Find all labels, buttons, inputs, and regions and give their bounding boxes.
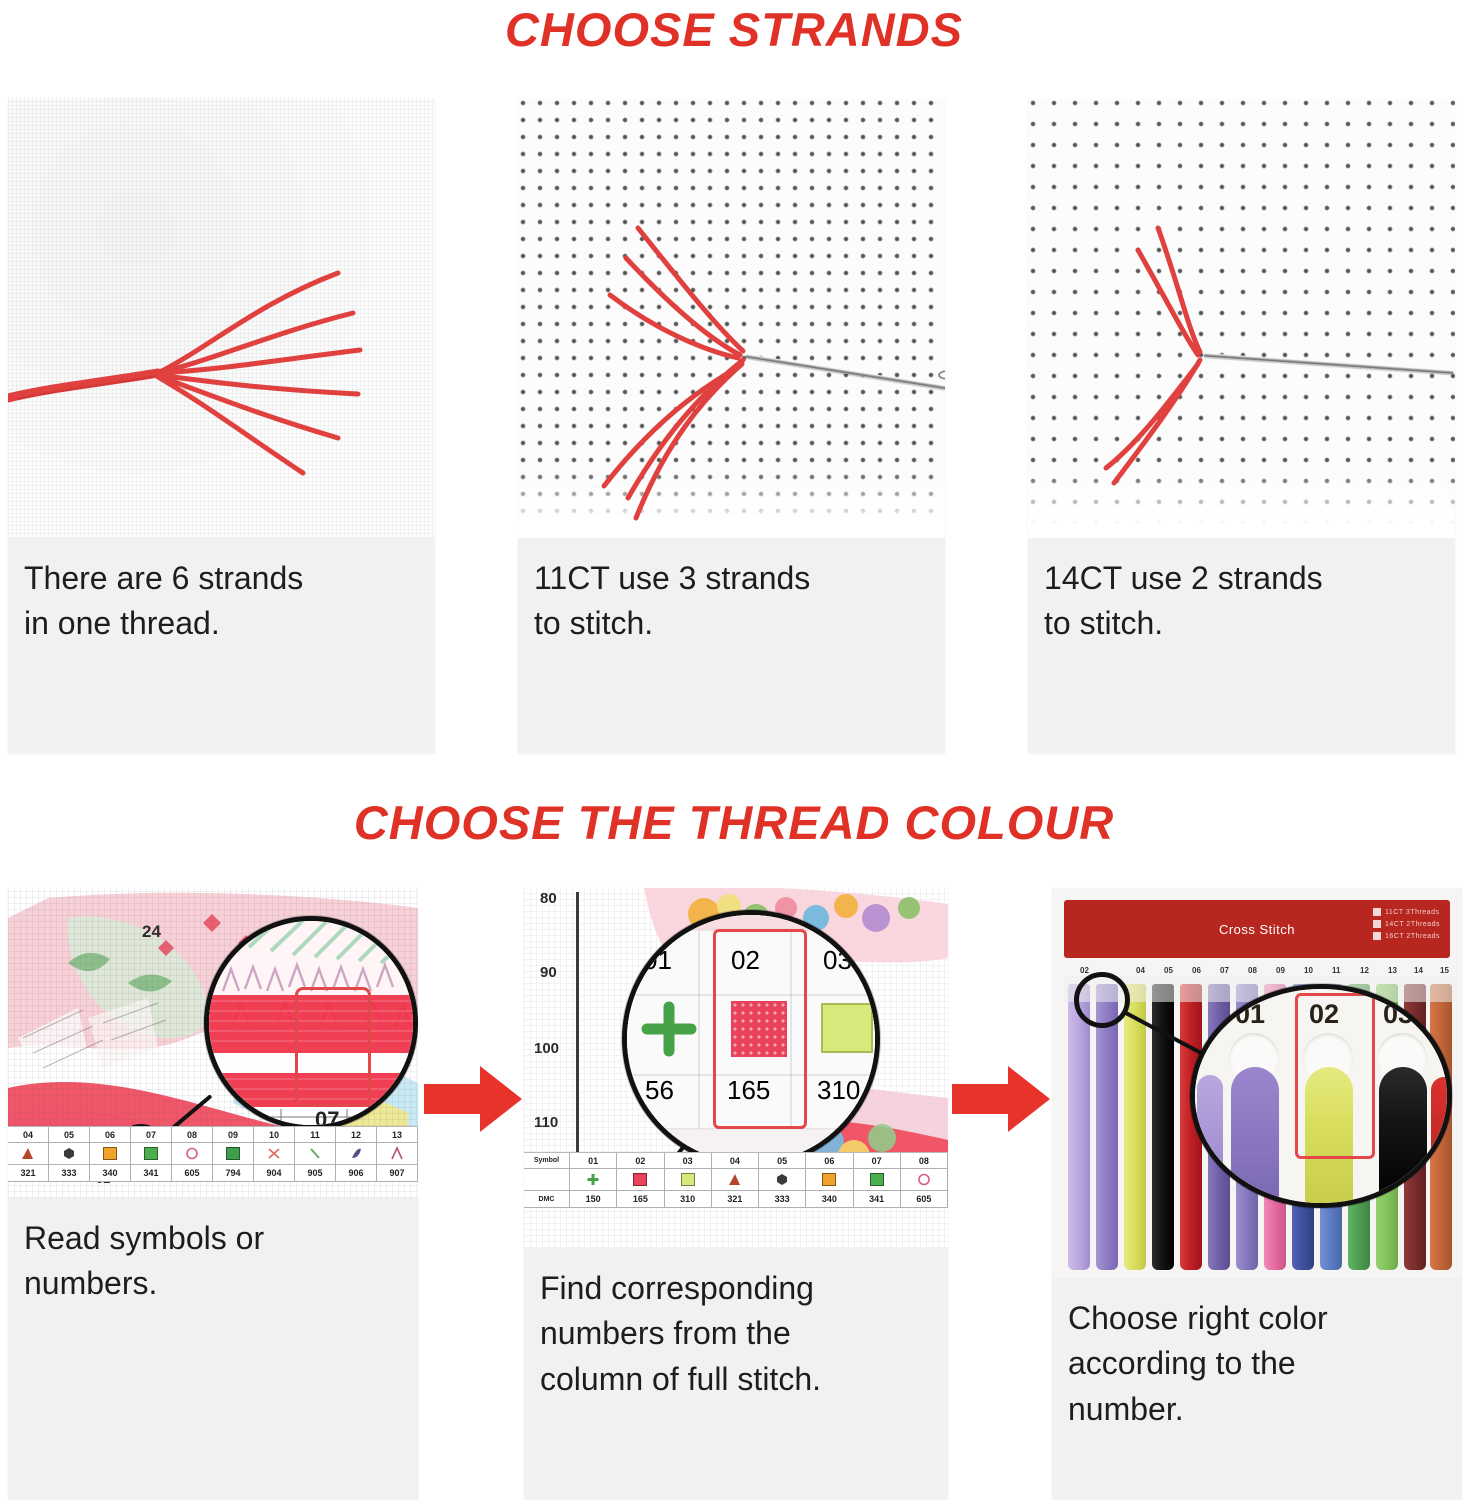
checklist-label: 14CT 2Threads <box>1385 921 1440 928</box>
square-icon <box>870 1173 884 1186</box>
legend-number-cell: 165 <box>617 1191 664 1208</box>
caption-choose-color: Choose right color according to the numb… <box>1052 1278 1462 1442</box>
lens-column-label: 03 <box>1383 999 1413 1030</box>
axis-tick-label: 110 <box>534 1114 558 1131</box>
axis-tick-label: 80 <box>540 890 557 907</box>
legend-row-label: DMC <box>524 1191 570 1208</box>
legend-symbol-cell <box>131 1143 172 1165</box>
legend-header-cell: 05 <box>759 1153 806 1169</box>
section-title-choose-thread-colour: CHOOSE THE THREAD COLOUR <box>0 795 1468 850</box>
checkbox-icon <box>1373 908 1381 916</box>
legend-number-cell: 794 <box>213 1165 254 1182</box>
thread-skein <box>1124 984 1146 1270</box>
legend-number-cell: 905 <box>295 1165 336 1182</box>
caption-line: There are 6 strands <box>24 556 419 601</box>
triangle-icon <box>20 1146 36 1161</box>
zoom-source-marker <box>1074 972 1130 1028</box>
checklist-label: 11CT 3Threads <box>1385 909 1440 916</box>
card-six-strands: There are 6 strands in one thread. <box>8 98 435 753</box>
photo-thread-organizer: Cross Stitch 11CT 3Threads 14CT 2Threads… <box>1052 888 1462 1278</box>
card-find-numbers: 80 90 100 110 01 <box>524 888 948 1500</box>
legend-header-cell: 05 <box>49 1127 90 1143</box>
legend-symbol-cell <box>295 1143 336 1165</box>
card-11ct: 11CT use 3 strands to stitch. <box>518 98 945 753</box>
chart-y-axis <box>576 892 579 1192</box>
organizer-header-band: Cross Stitch 11CT 3Threads 14CT 2Threads… <box>1064 900 1450 958</box>
legend-symbol-cell <box>90 1143 131 1165</box>
card-choose-color: Cross Stitch 11CT 3Threads 14CT 2Threads… <box>1052 888 1462 1500</box>
magnifier-lens-organizer: 01 02 03 <box>1190 984 1452 1208</box>
legend-number-cell: 341 <box>854 1191 901 1208</box>
legend-symbol-cell <box>759 1169 806 1191</box>
legend-symbol-row <box>524 1169 948 1191</box>
legend-number-cell: 340 <box>806 1191 853 1208</box>
legend-number-cell: 605 <box>901 1191 948 1208</box>
photo-pattern-chart: 24 <box>8 888 418 1198</box>
legend-symbol-cell <box>336 1143 377 1165</box>
legend-symbol-cell <box>49 1143 90 1165</box>
legend-header-cell: 11 <box>295 1127 336 1143</box>
legend-number-cell: 321 <box>8 1165 49 1182</box>
caption-line: according to the <box>1068 1341 1446 1386</box>
caption-find-numbers: Find corresponding numbers from the colu… <box>524 1248 948 1412</box>
hanger-number: 08 <box>1248 966 1257 975</box>
hanger-number: 02 <box>1080 966 1089 975</box>
legend-header-cell: 07 <box>854 1153 901 1169</box>
chart-number-24: 24 <box>142 922 161 942</box>
hanger-number: 04 <box>1136 966 1145 975</box>
magnifier-lens-chart: 01 02 03 56 165 310 <box>622 910 880 1168</box>
caption-line: numbers from the <box>540 1311 932 1356</box>
legend-header-cell: 06 <box>806 1153 853 1169</box>
legend-symbol-cell <box>665 1169 712 1191</box>
legend-number-cell: 333 <box>49 1165 90 1182</box>
square-icon <box>633 1173 647 1186</box>
legend-symbol-row <box>8 1143 418 1165</box>
caption-11ct: 11CT use 3 strands to stitch. <box>518 538 945 657</box>
arrow-step-2-to-3 <box>952 1060 1052 1138</box>
legend-header-cell: 03 <box>665 1153 712 1169</box>
caption-read-symbols: Read symbols or numbers. <box>8 1198 418 1317</box>
organizer-checklist: 11CT 3Threads 14CT 2Threads 16CT 2Thread… <box>1373 908 1440 944</box>
legend-number-row: DMC 150 165 310 321 333 340 341 605 <box>524 1191 948 1208</box>
legend-number-cell: 605 <box>172 1165 213 1182</box>
legend-header-cell: 13 <box>377 1127 418 1143</box>
infographic-page: CHOOSE STRANDS There are 6 <box>0 0 1468 1500</box>
legend-symbol-cell <box>172 1143 213 1165</box>
card-14ct: 14CT use 2 strands to stitch. <box>1028 98 1455 753</box>
checkbox-icon <box>1373 920 1381 928</box>
six-strands-thread-illustration <box>8 98 435 538</box>
legend-row-label: Symbol <box>524 1153 570 1169</box>
highlight-box-thread-02 <box>1295 993 1375 1159</box>
square-icon <box>226 1147 240 1160</box>
hanger-number: 10 <box>1304 966 1313 975</box>
square-icon <box>681 1173 695 1186</box>
caption-line: number. <box>1068 1387 1446 1432</box>
legend-header-cell: 08 <box>901 1153 948 1169</box>
cross-icon <box>266 1146 282 1161</box>
caption-line: to stitch. <box>1044 601 1439 646</box>
lens-dmc-number: 56 <box>645 1075 674 1106</box>
checklist-item: 14CT 2Threads <box>1373 920 1440 928</box>
slash-icon <box>307 1146 323 1161</box>
hanger-number: 09 <box>1276 966 1285 975</box>
legend-header-cell: 04 <box>712 1153 759 1169</box>
lens-column-label: 01 <box>643 945 672 976</box>
caption-line: Choose right color <box>1068 1296 1446 1341</box>
caption-line: to stitch. <box>534 601 929 646</box>
hanger-number: 06 <box>1192 966 1201 975</box>
legend-header-cell: 02 <box>617 1153 664 1169</box>
axis-tick-label: 90 <box>540 964 557 981</box>
legend-number-row: 321 333 340 341 605 794 904 905 906 907 <box>8 1165 418 1182</box>
thread-skein <box>1068 984 1090 1270</box>
legend-number-cell: 340 <box>90 1165 131 1182</box>
caption-line: in one thread. <box>24 601 419 646</box>
leaf-icon <box>348 1146 364 1161</box>
checklist-label: 16CT 2Threads <box>1385 933 1440 940</box>
legend-number-cell: 906 <box>336 1165 377 1182</box>
caption-line: 11CT use 3 strands <box>534 556 929 601</box>
caption-line: Find corresponding <box>540 1266 932 1311</box>
legend-number-cell: 310 <box>665 1191 712 1208</box>
legend-symbol-cell <box>213 1143 254 1165</box>
lens-thread <box>1379 1067 1427 1207</box>
legend-symbol-cell <box>854 1169 901 1191</box>
legend-header-cell: 08 <box>172 1127 213 1143</box>
circle-icon <box>184 1146 200 1161</box>
legend-header-cell: 01 <box>570 1153 617 1169</box>
caption-line: 14CT use 2 strands <box>1044 556 1439 601</box>
legend-symbol-cell <box>570 1169 617 1191</box>
cross-icon <box>585 1172 601 1187</box>
hexagon-icon <box>774 1172 790 1187</box>
photo-chart-with-axis: 80 90 100 110 01 <box>524 888 948 1248</box>
triangle-icon <box>727 1172 743 1187</box>
photo-six-strands <box>8 98 435 538</box>
legend-symbol-cell <box>377 1143 418 1165</box>
highlight-box-pattern <box>295 987 371 1107</box>
legend-symbol-cell <box>8 1143 49 1165</box>
lens-thread <box>1231 1067 1279 1207</box>
legend-symbol-cell <box>712 1169 759 1191</box>
legend-number-cell: 150 <box>570 1191 617 1208</box>
checklist-item: 11CT 3Threads <box>1373 908 1440 916</box>
magnifier-lens-pattern: 07 <box>204 916 418 1130</box>
caption-line: column of full stitch. <box>540 1357 932 1402</box>
three-strands-thread-illustration <box>518 98 945 538</box>
hanger-number: 14 <box>1414 966 1423 975</box>
lens-column-label: 03 <box>823 945 852 976</box>
hanger-number: 05 <box>1164 966 1173 975</box>
hanger-number: 13 <box>1388 966 1397 975</box>
legend-number-cell: 904 <box>254 1165 295 1182</box>
square-icon <box>822 1173 836 1186</box>
checkbox-icon <box>1373 932 1381 940</box>
caption-line: Read symbols or <box>24 1216 402 1261</box>
legend-header-row: Symbol 01 02 03 04 05 06 07 08 <box>524 1153 948 1169</box>
axis-tick-label: 100 <box>534 1040 559 1057</box>
circle-icon <box>916 1172 932 1187</box>
square-icon <box>144 1147 158 1160</box>
highlight-box-column-02 <box>713 929 807 1129</box>
lens-thread <box>1197 1075 1223 1195</box>
legend-header-row: 04 05 06 07 08 09 10 11 12 13 <box>8 1127 418 1143</box>
legend-number-cell: 333 <box>759 1191 806 1208</box>
cross-icon <box>641 1001 697 1057</box>
hanger-number: 15 <box>1440 966 1449 975</box>
lens-column-label: 01 <box>1235 999 1265 1030</box>
organizer-title: Cross Stitch <box>1219 922 1295 937</box>
two-strands-thread-illustration <box>1028 98 1455 538</box>
legend-header-cell: 09 <box>213 1127 254 1143</box>
square-icon <box>821 1003 873 1053</box>
legend-table-find: Symbol 01 02 03 04 05 06 07 08 <box>524 1152 948 1208</box>
square-icon <box>103 1147 117 1160</box>
legend-header-cell: 04 <box>8 1127 49 1143</box>
photo-14ct <box>1028 98 1455 538</box>
legend-symbol-cell <box>617 1169 664 1191</box>
legend-header-cell: 07 <box>131 1127 172 1143</box>
legend-number-cell: 321 <box>712 1191 759 1208</box>
legend-number-cell: 907 <box>377 1165 418 1182</box>
hanger-number: 12 <box>1360 966 1369 975</box>
checklist-item: 16CT 2Threads <box>1373 932 1440 940</box>
hexagon-icon <box>61 1146 77 1161</box>
caption-line: numbers. <box>24 1261 402 1306</box>
legend-number-cell: 341 <box>131 1165 172 1182</box>
legend-header-cell: 10 <box>254 1127 295 1143</box>
card-read-symbols: 24 <box>8 888 418 1500</box>
legend-symbol-cell <box>806 1169 853 1191</box>
arc-icon <box>389 1146 405 1161</box>
legend-table-read: 04 05 06 07 08 09 10 11 12 13 <box>8 1126 418 1182</box>
caption-six-strands: There are 6 strands in one thread. <box>8 538 435 657</box>
section-title-choose-strands: CHOOSE STRANDS <box>0 2 1468 57</box>
legend-symbol-cell <box>254 1143 295 1165</box>
legend-symbol-cell <box>901 1169 948 1191</box>
hanger-number: 11 <box>1332 966 1340 975</box>
caption-14ct: 14CT use 2 strands to stitch. <box>1028 538 1455 657</box>
legend-header-cell: 12 <box>336 1127 377 1143</box>
hanger-number: 07 <box>1220 966 1229 975</box>
lens-dmc-number: 310 <box>817 1075 860 1106</box>
legend-header-cell: 06 <box>90 1127 131 1143</box>
photo-11ct <box>518 98 945 538</box>
arrow-step-1-to-2 <box>424 1060 524 1138</box>
